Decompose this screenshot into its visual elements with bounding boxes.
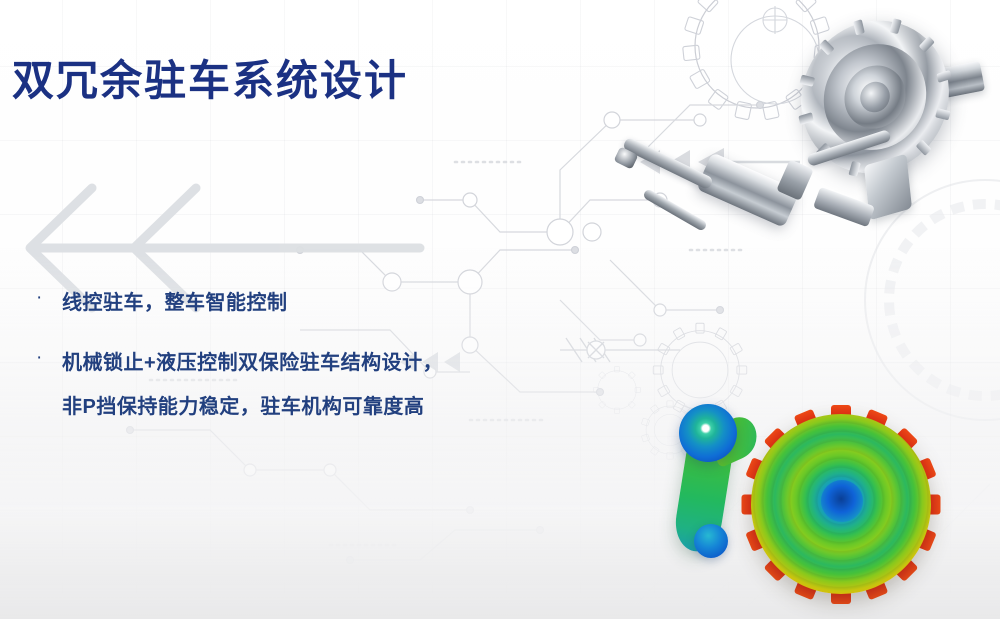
pawl-pivot-hub [679, 404, 737, 462]
bullet-item-1: · 线控驻车，整车智能控制 [30, 281, 590, 325]
bullet-line: 机械锁止+液压控制双保险驻车结构设计， [62, 341, 443, 385]
bullet-text-2: 机械锁止+液压控制双保险驻车结构设计， 非P挡保持能力稳定，驻车机构可靠度高 [62, 341, 443, 429]
presentation-slide: 双冗余驻车系统设计 · 线控驻车，整车智能控制 · 机械锁止+液压控制双保险驻车… [0, 0, 1000, 619]
bullet-item-2: · 机械锁止+液压控制双保险驻车结构设计， 非P挡保持能力稳定，驻车机构可靠度高 [30, 341, 590, 429]
bullet-text-1: 线控驻车，整车智能控制 [62, 281, 288, 325]
bullet-marker-icon: · [30, 281, 62, 315]
bullet-list: · 线控驻车，整车智能控制 · 机械锁止+液压控制双保险驻车结构设计， 非P挡保… [30, 281, 590, 445]
bullet-line: 非P挡保持能力稳定，驻车机构可靠度高 [62, 385, 443, 429]
pawl-pin [694, 524, 728, 558]
bullet-line: 线控驻车，整车智能控制 [62, 281, 288, 325]
parking-gear-contour [735, 398, 947, 610]
slide-title: 双冗余驻车系统设计 [12, 57, 408, 104]
bullet-marker-icon: · [30, 341, 62, 375]
